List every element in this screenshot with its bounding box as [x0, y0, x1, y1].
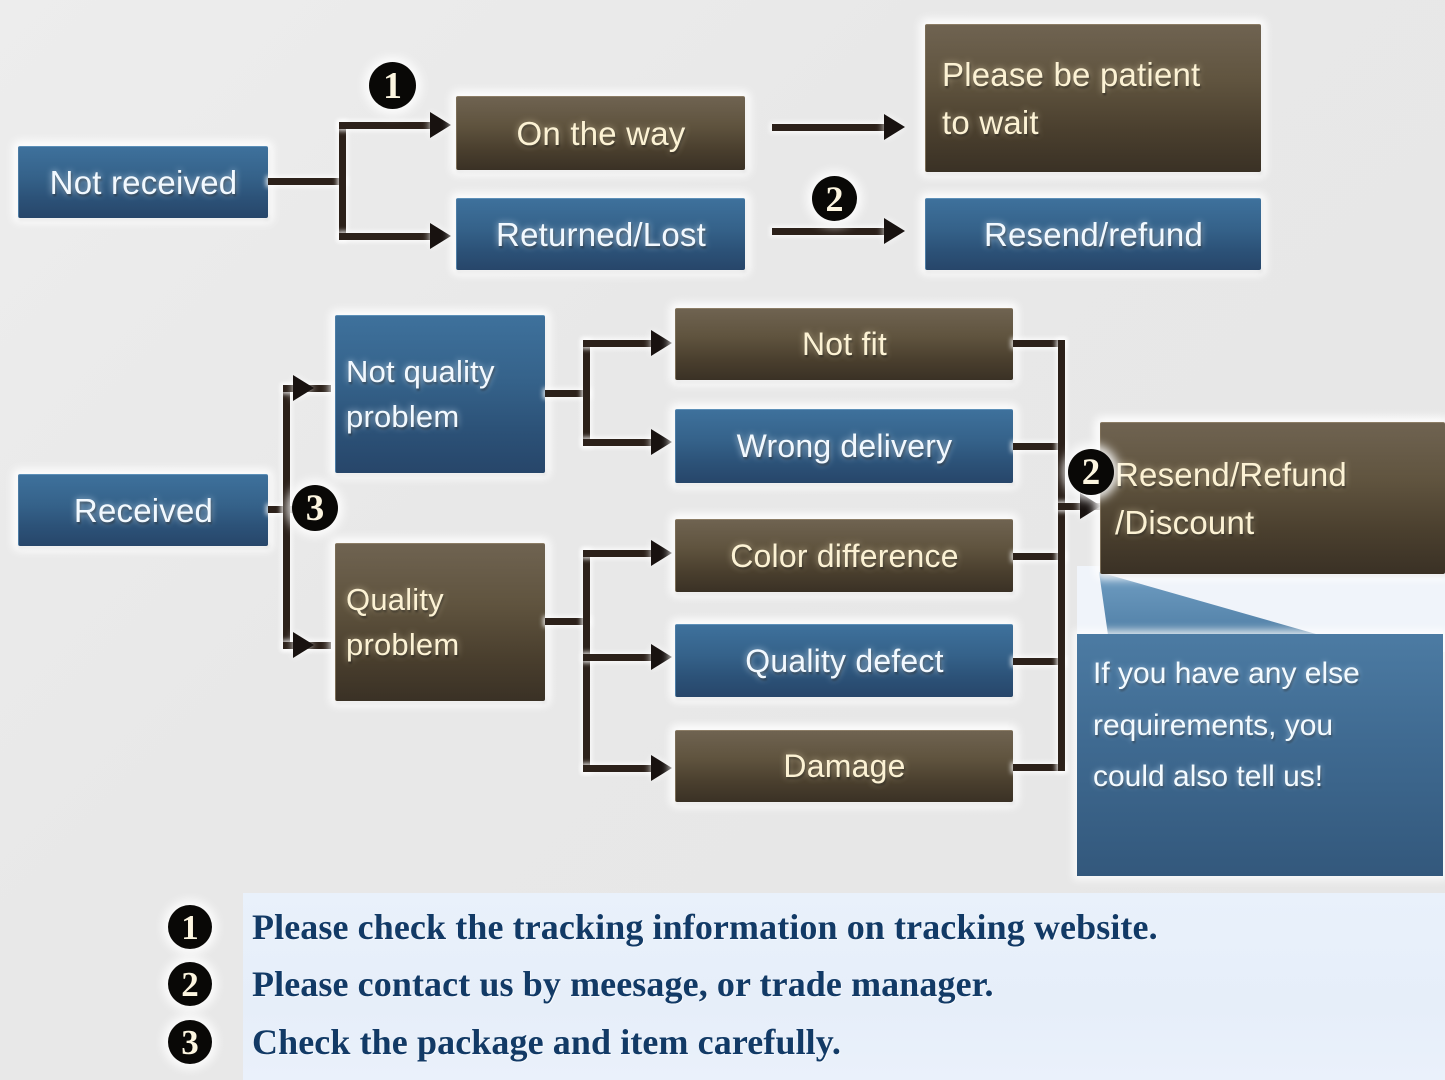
arrowhead-to-on-the-way — [430, 112, 451, 138]
node-quality-defect-label: Quality defect — [676, 638, 1013, 684]
note-line-2: requirements, you — [1093, 700, 1427, 752]
arrowhead-to-returned-lost — [430, 223, 451, 249]
node-color-difference[interactable]: Color difference — [675, 519, 1013, 592]
node-please-be-patient[interactable]: Please be patient to wait — [925, 24, 1261, 172]
node-returned-lost[interactable]: Returned/Lost — [456, 198, 745, 270]
connector-not-received-stem — [268, 178, 346, 185]
note-line-1: If you have any else — [1093, 648, 1427, 700]
legend-item-1: 1 Please check the tracking information … — [168, 898, 1158, 956]
quality-problem-line1: Quality — [346, 582, 444, 617]
legend-item-1-text: Please check the tracking information on… — [252, 906, 1158, 948]
marker-3-received: 3 — [292, 485, 338, 531]
note-line-3: could also tell us! — [1093, 751, 1427, 803]
flowchart-canvas: Not received 1 On the way Returned/Lost … — [0, 0, 1445, 1080]
node-quality-problem[interactable]: Quality problem — [335, 543, 545, 701]
not-quality-problem-line2: problem — [346, 399, 459, 434]
merge-trunk — [1058, 340, 1065, 771]
node-damage[interactable]: Damage — [675, 730, 1013, 802]
connector-to-wrong-delivery — [583, 439, 655, 446]
connector-on-the-way-to-wait — [772, 124, 890, 131]
node-not-quality-problem[interactable]: Not quality problem — [335, 315, 545, 473]
marker-2-resend-refund: 2 — [812, 176, 857, 221]
node-resend-refund[interactable]: Resend/refund — [925, 198, 1261, 270]
connector-nqp-trunk — [583, 340, 590, 446]
legend-marker-1-number: 1 — [181, 910, 199, 945]
legend-item-3-text: Check the package and item carefully. — [252, 1021, 841, 1063]
connector-to-on-the-way — [339, 122, 434, 129]
legend-marker-3-icon: 3 — [168, 1020, 212, 1064]
node-not-received[interactable]: Not received — [18, 146, 268, 218]
node-wrong-delivery-label: Wrong delivery — [676, 423, 1013, 469]
marker-3-glyph: 3 — [306, 490, 325, 527]
arrowhead-to-quality-problem — [293, 632, 314, 658]
marker-2-resend-discount: 2 — [1068, 449, 1114, 495]
node-resend-refund-label: Resend/refund — [926, 211, 1261, 259]
connector-returned-to-resend — [772, 228, 890, 235]
node-damage-label: Damage — [676, 743, 1013, 789]
legend-marker-2-number: 2 — [181, 967, 199, 1002]
marker-1-glyph: 1 — [383, 67, 402, 105]
arrowhead-to-color-difference — [651, 540, 672, 566]
node-not-quality-problem-label: Not quality problem — [346, 350, 535, 440]
marker-1-not-received: 1 — [369, 62, 416, 109]
arrowhead-to-quality-defect — [651, 644, 672, 670]
please-be-patient-line2: to wait — [942, 104, 1039, 141]
arrowhead-to-damage — [651, 755, 672, 781]
node-on-the-way-label: On the way — [457, 110, 745, 158]
arrowhead-to-resend-refund — [884, 218, 905, 244]
quality-problem-line2: problem — [346, 627, 459, 662]
connector-not-received-trunk — [339, 122, 346, 240]
note-bubble: If you have any else requirements, you c… — [1077, 634, 1443, 876]
connector-to-quality-defect — [583, 654, 655, 661]
arrowhead-to-resend-refund-discount — [1080, 493, 1101, 519]
legend-marker-3-number: 3 — [181, 1025, 199, 1060]
node-quality-problem-label: Quality problem — [346, 578, 535, 668]
arrowhead-to-not-quality-problem — [293, 375, 314, 401]
legend-item-2: 2 Please contact us by meesage, or trade… — [168, 955, 994, 1013]
connector-to-returned-lost — [339, 233, 434, 240]
node-on-the-way[interactable]: On the way — [456, 96, 745, 170]
node-received[interactable]: Received — [18, 474, 268, 546]
resend-refund-discount-line2: /Discount — [1115, 504, 1254, 541]
node-not-received-label: Not received — [19, 159, 268, 207]
node-received-label: Received — [19, 487, 268, 535]
legend-marker-1-icon: 1 — [168, 905, 212, 949]
arrowhead-to-please-wait — [884, 114, 905, 140]
connector-to-not-fit — [583, 340, 655, 347]
legend-marker-2-icon: 2 — [168, 962, 212, 1006]
node-not-fit[interactable]: Not fit — [675, 308, 1013, 380]
connector-received-trunk — [283, 385, 290, 649]
legend-item-3: 3 Check the package and item carefully. — [168, 1013, 841, 1071]
please-be-patient-line1: Please be patient — [942, 56, 1200, 93]
node-resend-refund-discount[interactable]: Resend/Refund /Discount — [1100, 422, 1445, 574]
not-quality-problem-line1: Not quality — [346, 354, 495, 389]
node-not-fit-label: Not fit — [676, 321, 1013, 367]
node-color-difference-label: Color difference — [676, 533, 1013, 579]
connector-qp-trunk — [583, 550, 590, 772]
legend-item-2-text: Please contact us by meesage, or trade m… — [252, 963, 994, 1005]
arrowhead-to-wrong-delivery — [651, 429, 672, 455]
node-please-be-patient-label: Please be patient to wait — [942, 51, 1245, 147]
marker-2-glyph: 2 — [826, 181, 844, 217]
resend-refund-discount-line1: Resend/Refund — [1115, 456, 1347, 493]
node-returned-lost-label: Returned/Lost — [457, 211, 745, 259]
marker-2-discount-glyph: 2 — [1082, 454, 1101, 491]
node-wrong-delivery[interactable]: Wrong delivery — [675, 409, 1013, 483]
arrowhead-to-not-fit — [651, 330, 672, 356]
connector-to-damage — [583, 765, 655, 772]
node-resend-refund-discount-label: Resend/Refund /Discount — [1115, 451, 1431, 547]
node-quality-defect[interactable]: Quality defect — [675, 624, 1013, 697]
connector-to-color-difference — [583, 550, 655, 557]
